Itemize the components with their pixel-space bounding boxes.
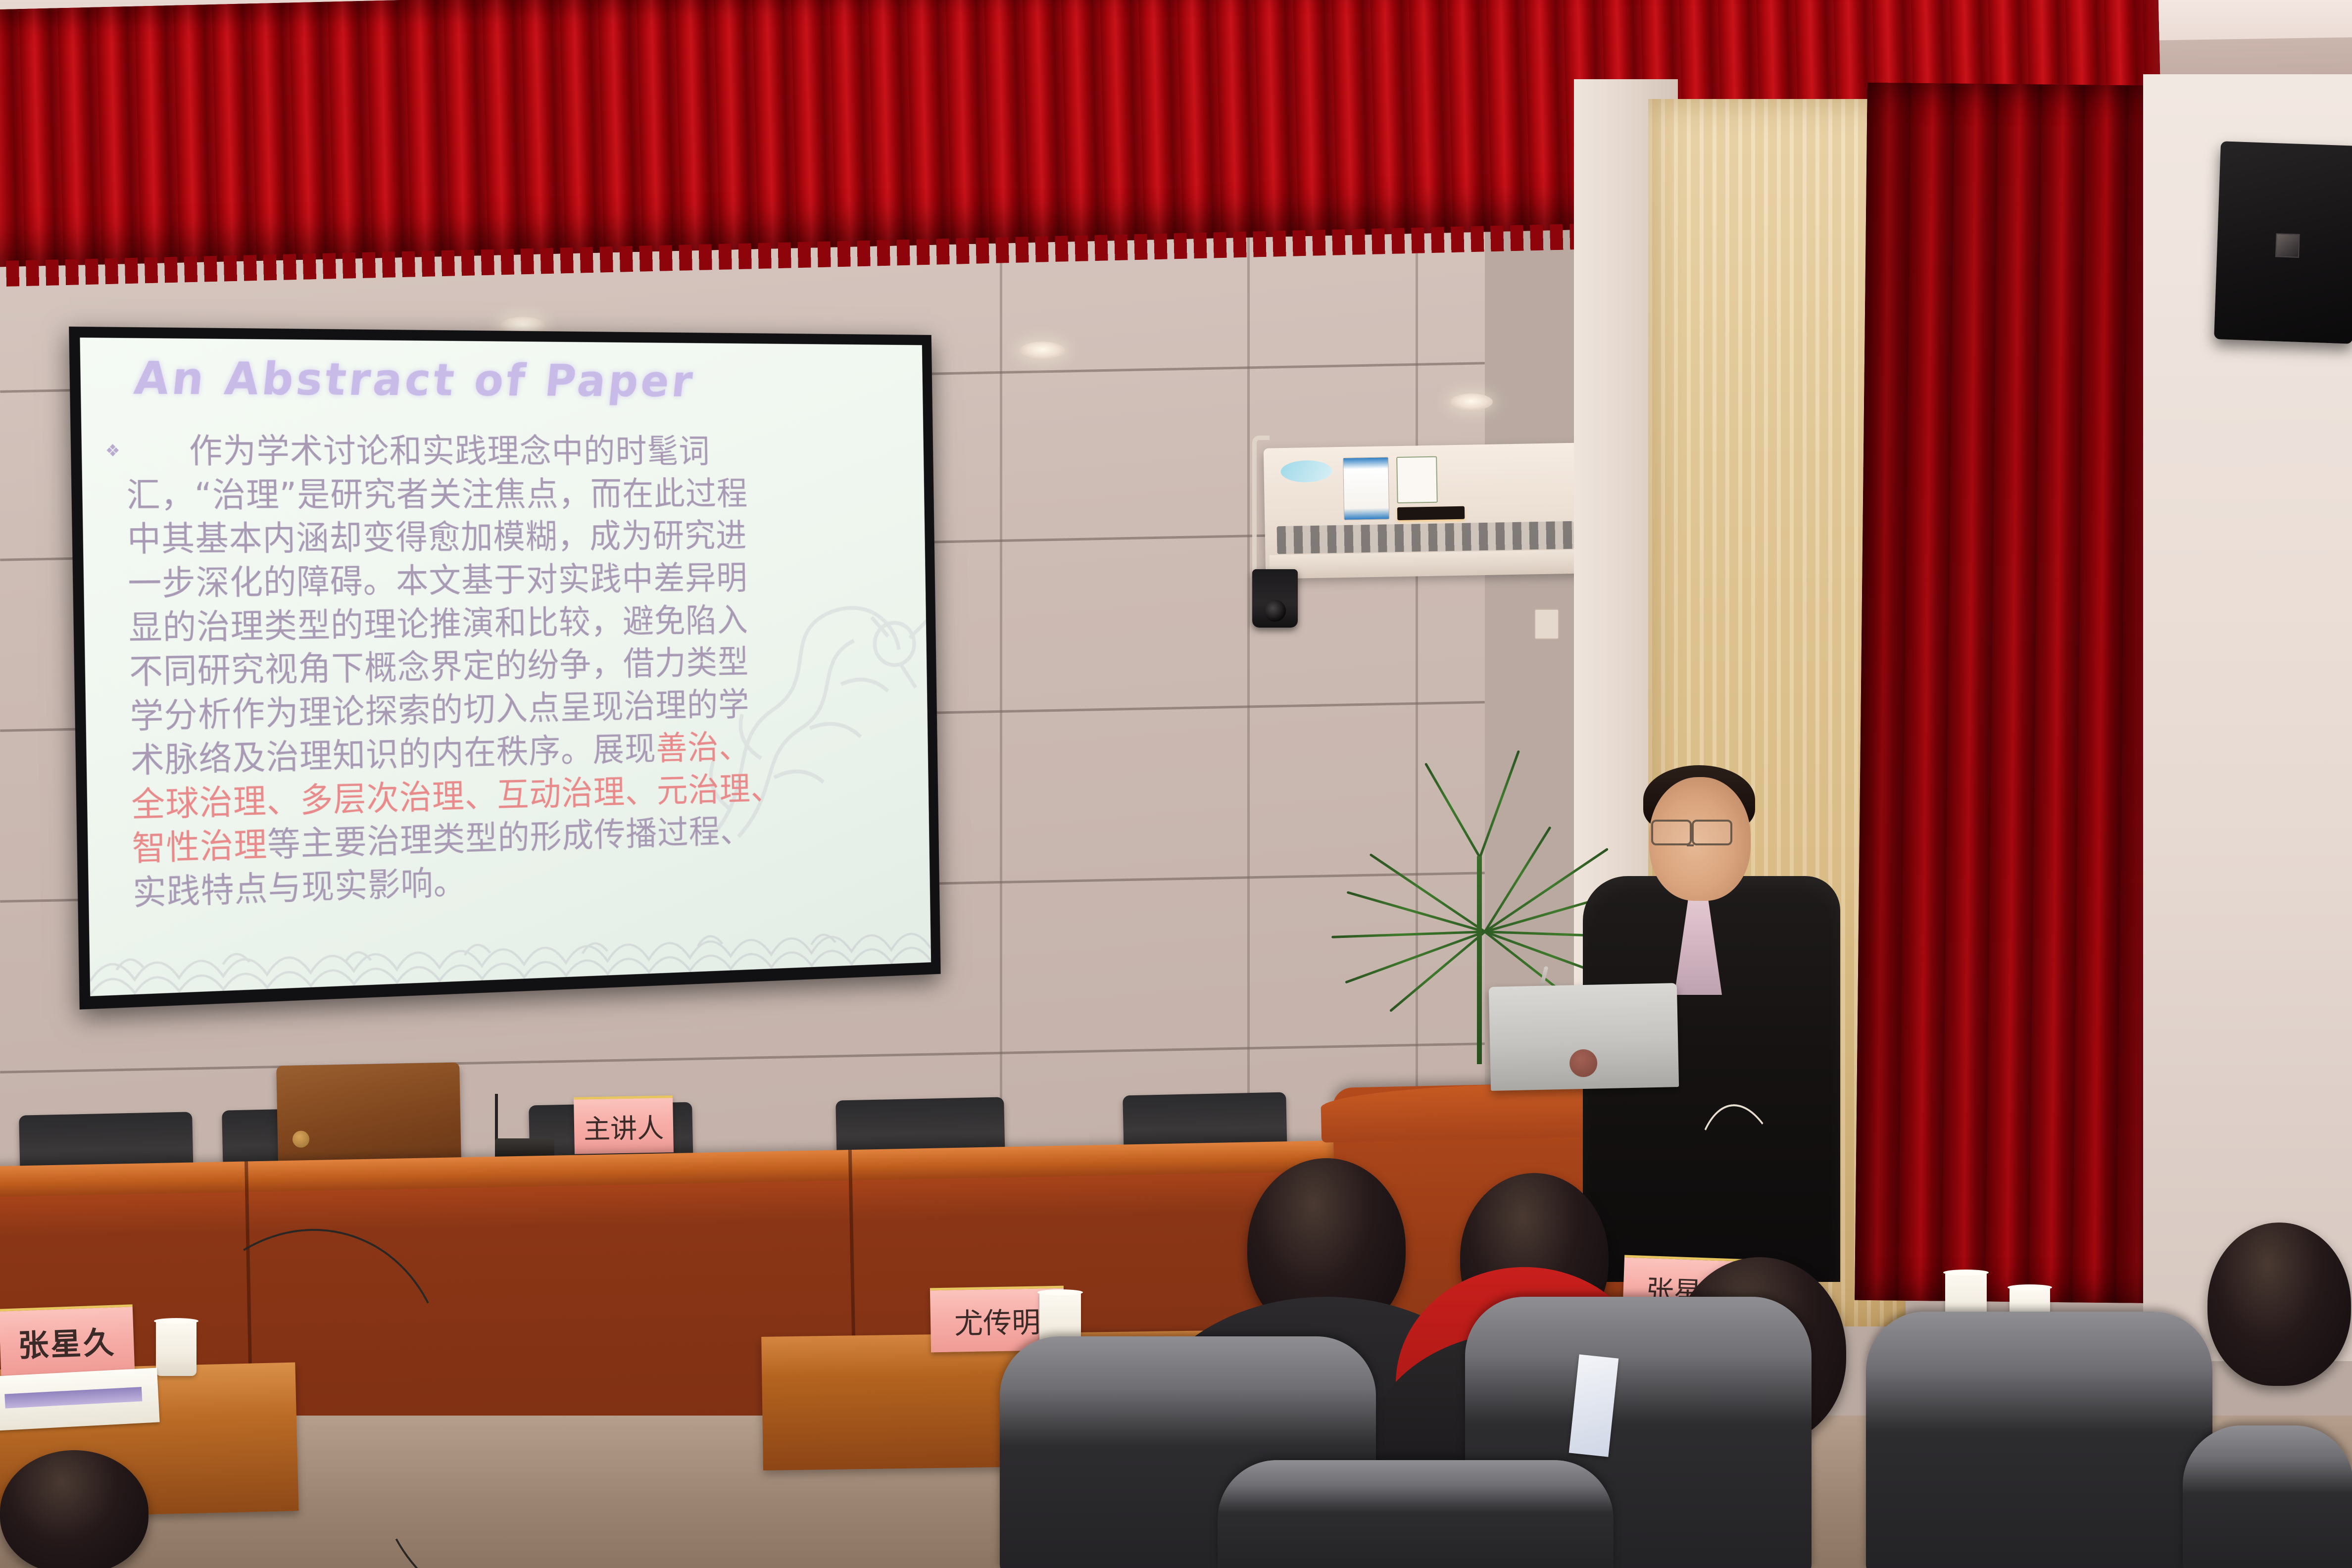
slide-title: An Abstract of Paper	[132, 352, 697, 407]
paper-cup[interactable]	[156, 1321, 196, 1376]
wall-surveillance-camera	[1252, 569, 1298, 628]
wall-panel-seam-vertical	[1000, 99, 1002, 1262]
eyeglasses-icon	[1692, 820, 1732, 845]
audience-seat[interactable]	[1866, 1312, 2212, 1568]
dell-laptop[interactable]	[1489, 983, 1679, 1091]
audience-member-head	[0, 1450, 148, 1568]
nameplate-speaker: 主讲人	[574, 1095, 674, 1154]
hp-laptop[interactable]	[276, 1062, 461, 1162]
ac-display-panel	[1397, 506, 1465, 520]
audience-seat[interactable]	[2183, 1425, 2352, 1568]
projection-screen-frame: An Abstract of Paper ❖ 作为学术讨论和实践理念中的时髦词汇…	[69, 327, 940, 1010]
nameplate-table-left: 张星久	[0, 1304, 135, 1375]
eyeglasses-bridge-icon	[1687, 844, 1694, 846]
ac-eco-sticker-icon	[1280, 460, 1332, 483]
audience-seat[interactable]	[1218, 1460, 1614, 1568]
slide-bullet-icon: ❖	[105, 442, 120, 459]
plant-stem	[1477, 856, 1482, 1064]
wall-power-outlet	[1534, 609, 1559, 639]
ac-brand-text	[1398, 494, 1401, 503]
ac-air-louvers	[1277, 521, 1574, 554]
slide-body-line: 作为学术讨论和实践理念中的时髦词	[126, 430, 898, 474]
ac-energy-label-icon	[1343, 457, 1389, 520]
dell-logo-icon	[1569, 1049, 1598, 1077]
slide-body-line: 汇，“治理”是研究者关注焦点，而在此过程	[126, 473, 898, 518]
recessed-downlight-icon	[1020, 342, 1065, 359]
ac-certification-label-icon	[1396, 456, 1438, 503]
recessed-downlight-icon	[1450, 393, 1493, 410]
lecture-hall-photo: An Abstract of Paper ❖ 作为学术讨论和实践理念中的时髦词汇…	[0, 0, 2352, 1568]
wall-panel-seam-vertical	[1247, 99, 1250, 1262]
wall-panel-seam	[0, 1042, 1485, 1074]
projection-screen: An Abstract of Paper ❖ 作为学术讨论和实践理念中的时髦词汇…	[80, 338, 931, 996]
wall-mounted-loudspeaker	[2214, 141, 2352, 344]
slide-body-text: 作为学术讨论和实践理念中的时髦词汇，“治理”是研究者关注焦点，而在此过程中其基本…	[126, 430, 904, 916]
audience-member-head	[2207, 1223, 2351, 1386]
eyeglasses-icon	[1651, 820, 1692, 845]
ac-bottom-lip	[1270, 549, 1587, 579]
wall-split-air-conditioner	[1264, 442, 1592, 577]
slide-body-line: 中其基本内涵却变得愈加模糊，成为研究进	[127, 515, 899, 562]
paper-stack[interactable]	[0, 1368, 160, 1430]
hp-logo-icon	[293, 1130, 310, 1148]
red-side-curtain	[1855, 83, 2174, 1303]
